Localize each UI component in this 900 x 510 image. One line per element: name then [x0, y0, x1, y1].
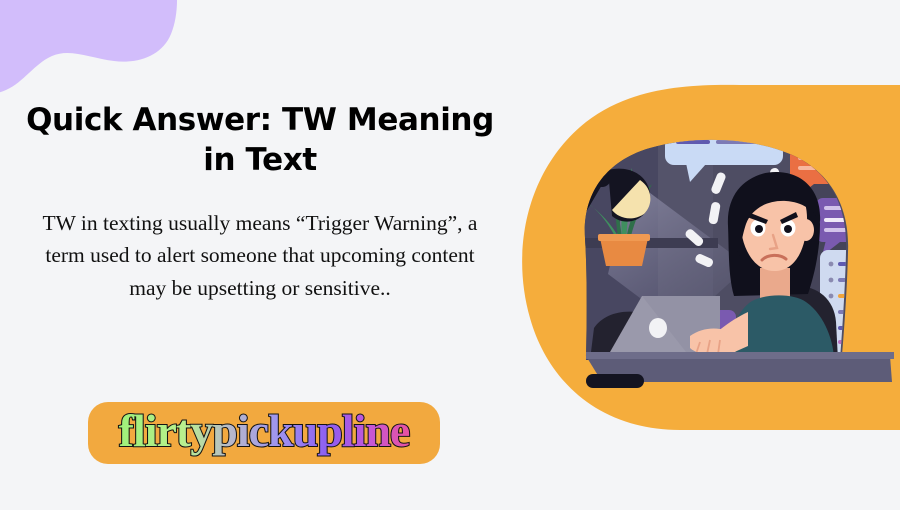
laptop-logo: [649, 318, 667, 338]
purple-blob: [0, 0, 181, 105]
lamp-base: [586, 374, 644, 388]
body-paragraph: TW in texting usually means “Trigger War…: [36, 207, 484, 305]
brand-logo-text: flirtypickupline: [119, 405, 410, 456]
hero-illustration: [490, 60, 900, 435]
page-canvas: Quick Answer: TW Meaning in Text TW in t…: [0, 0, 900, 510]
text-column: Quick Answer: TW Meaning in Text TW in t…: [0, 100, 520, 305]
purple-blob-shape: [0, 0, 177, 94]
plant-pot: [600, 238, 648, 266]
brand-logo[interactable]: flirtypickupline: [88, 402, 440, 464]
page-title: Quick Answer: TW Meaning in Text: [18, 100, 502, 181]
brand-logo-wordmark: flirtypickupline: [94, 405, 434, 461]
ear: [798, 219, 814, 241]
